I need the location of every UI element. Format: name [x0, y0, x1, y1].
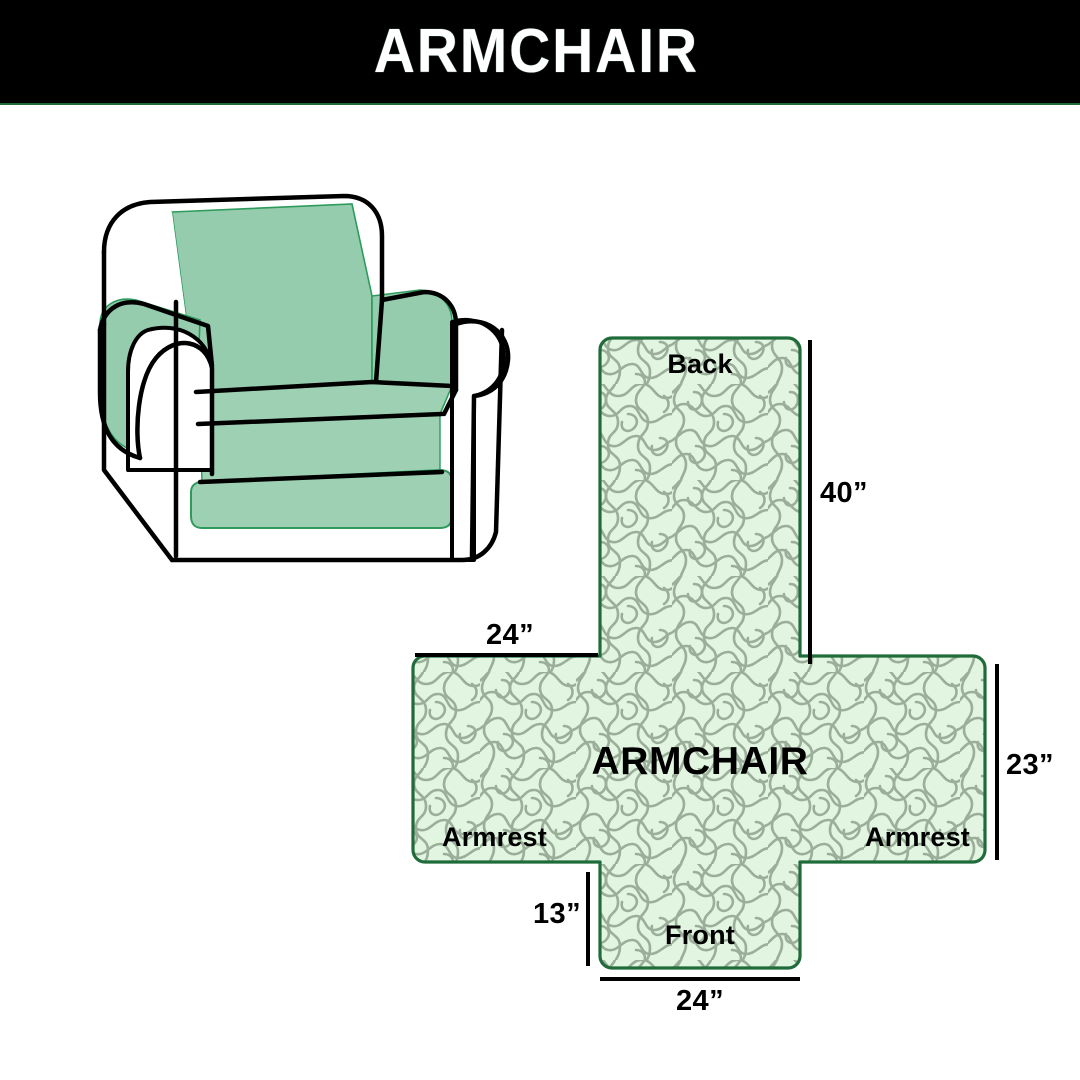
dimension-label-armrest-width: 24”: [420, 619, 600, 652]
dimension-label-front-width: 24”: [600, 985, 800, 1018]
dimension-label-front-height: 13”: [507, 898, 581, 931]
panel-label-armrest-left: Armrest: [418, 822, 618, 853]
panel-label-front: Front: [600, 920, 800, 951]
dimension-label-armrest-height: 23”: [1006, 749, 1080, 782]
pattern-center-label: ARMCHAIR: [560, 740, 840, 784]
armchair-illustration: [100, 196, 508, 560]
page-title: ARMCHAIR: [43, 0, 1037, 103]
dimension-lines: [415, 340, 997, 979]
dimension-label-back-height: 40”: [820, 477, 898, 510]
header-divider: [0, 103, 1080, 105]
panel-label-back: Back: [600, 349, 800, 380]
product-dimension-diagram: ARMCHAIR: [0, 0, 1080, 1080]
panel-label-armrest-right: Armrest: [790, 822, 986, 853]
cross-pattern-piece: [413, 338, 985, 968]
